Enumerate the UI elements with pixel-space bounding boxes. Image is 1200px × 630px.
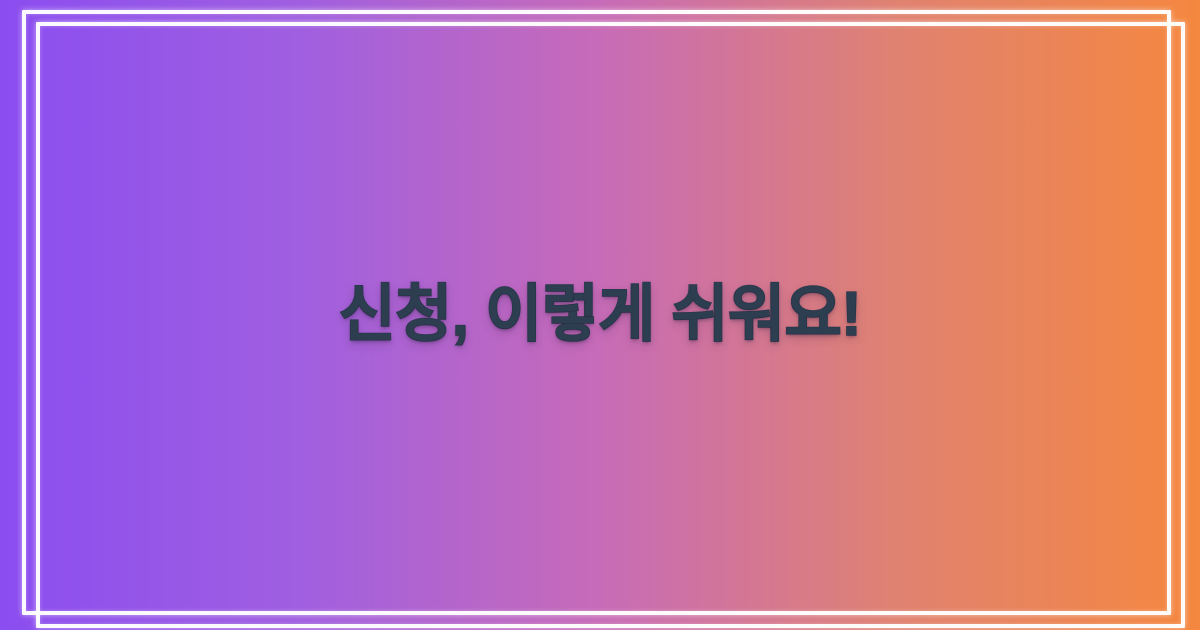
banner-title: 신청, 이렇게 쉬워요! — [339, 278, 862, 351]
banner-canvas: 신청, 이렇게 쉬워요! — [0, 0, 1200, 630]
title-container: 신청, 이렇게 쉬워요! — [0, 0, 1200, 630]
